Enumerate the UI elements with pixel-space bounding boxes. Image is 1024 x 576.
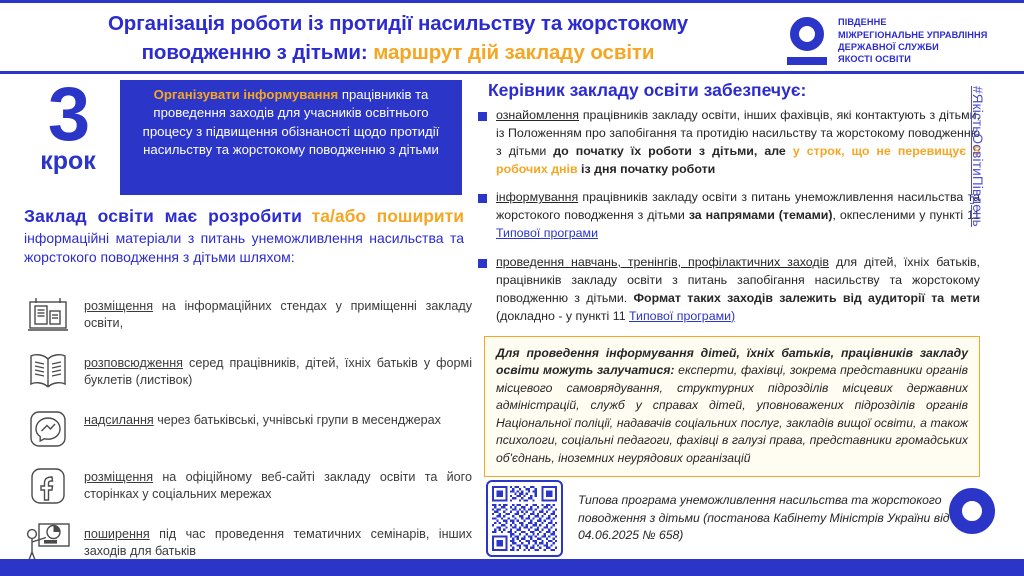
organization-name: ПІВДЕННЕ МІЖРЕГІОНАЛЬНЕ УПРАВЛІННЯ ДЕРЖА… — [838, 16, 987, 65]
qr-reference-row: Типова програма унеможливлення насильств… — [486, 480, 956, 557]
main-content: 3 крок Організувати інформування працівн… — [0, 74, 1024, 559]
org-line-4: ЯКОСТІ ОСВІТИ — [838, 53, 987, 65]
list-item: розміщення на офіційному веб-сайті закла… — [24, 463, 472, 511]
square-bullet-icon — [478, 194, 487, 203]
list-item: інформування працівників закладу освіти … — [478, 189, 980, 243]
page-title-accent: маршрут дій закладу освіти — [373, 41, 654, 64]
info-callout-box: Для проведення інформування дітей, їхніх… — [484, 336, 980, 477]
footer-bar — [0, 559, 1024, 576]
list-item-part2: (докладно - у пункті 11 — [496, 309, 629, 323]
list-item-keyword: ознайомлення — [496, 108, 579, 122]
list-item-text: розповсюдження серед працівників, дітей,… — [84, 349, 472, 390]
list-item-keyword: надсилання — [84, 413, 154, 427]
logo-mark-icon — [787, 17, 829, 65]
list-item: проведення навчань, тренінгів, профілакт… — [478, 254, 980, 325]
left-intro-bold-orange: та/або поширити — [312, 206, 464, 226]
step-badge: 3 крок — [22, 80, 114, 174]
organization-logo: ПІВДЕННЕ МІЖРЕГІОНАЛЬНЕ УПРАВЛІННЯ ДЕРЖА… — [787, 13, 1017, 69]
corner-ring-logo-icon — [949, 488, 995, 534]
list-item-keyword: проведення навчань, тренінгів, профілакт… — [496, 255, 829, 269]
list-item: розповсюдження серед працівників, дітей,… — [24, 349, 472, 397]
list-item-text: надсилання через батьківські, учнівські … — [84, 406, 472, 429]
org-line-2: МІЖРЕГІОНАЛЬНЕ УПРАВЛІННЯ — [838, 29, 987, 41]
step-callout-accent: Організувати інформування — [154, 87, 339, 102]
list-item-bold1: за напрямами (темами) — [689, 208, 833, 222]
list-item-part2: , окпесленими у пункті 11 — [833, 208, 980, 222]
header-banner: Організація роботи із протидії насильств… — [0, 0, 1024, 74]
left-intro-bold-blue: Заклад освіти має розробити — [24, 206, 302, 226]
info-box-rest: експерти, фахівці, зокрема представники … — [496, 363, 968, 464]
messenger-icon — [24, 406, 72, 452]
list-item: надсилання через батьківські, учнівські … — [24, 406, 472, 454]
page-title-line1: Організація роботи із протидії насильств… — [108, 12, 688, 35]
hashtag-label: #ЯкістьОсвітиПівдень — [970, 86, 985, 227]
list-item-bold1: до початку їх роботи з дітьми, але — [553, 144, 793, 158]
typical-program-link[interactable]: Типової програми) — [629, 309, 735, 323]
list-item-keyword: розміщення — [84, 470, 153, 484]
facebook-icon — [24, 463, 72, 509]
list-item-keyword: інформування — [496, 190, 578, 204]
list-item-keyword: поширення — [84, 527, 150, 541]
right-column-heading: Керівник закладу освіти забезпечує: — [488, 80, 806, 101]
left-intro-paragraph: Заклад освіти має розробити та/або пошир… — [24, 204, 464, 268]
step-number: 3 — [22, 80, 114, 151]
qr-code[interactable] — [486, 480, 563, 557]
logo-ring-shape — [790, 17, 824, 51]
list-item-keyword: розміщення — [84, 299, 153, 313]
list-item-bold2: із дня початку роботи — [578, 162, 716, 176]
org-line-3: ДЕРЖАВНОЇ СЛУЖБИ — [838, 41, 987, 53]
page-title-line2: поводженню з дітьми: — [142, 41, 368, 64]
list-item-text: ознайомлення працівників закладу освіти,… — [496, 107, 980, 178]
left-column: 3 крок Організувати інформування працівн… — [0, 74, 478, 559]
list-item-text: проведення навчань, тренінгів, профілакт… — [496, 254, 980, 325]
square-bullet-icon — [478, 112, 487, 121]
page-title: Організація роботи із протидії насильств… — [18, 9, 778, 67]
left-intro-rest: інформаційні матеріали з питань унеможли… — [24, 230, 464, 266]
logo-bar-shape — [787, 57, 827, 65]
step-section: 3 крок Організувати інформування працівн… — [22, 80, 472, 200]
list-item-text: розміщення на офіційному веб-сайті закла… — [84, 463, 472, 504]
noticeboard-icon — [24, 292, 72, 338]
typical-program-link[interactable]: Типової програми — [496, 226, 598, 240]
step-callout-box: Організувати інформування працівників та… — [120, 80, 462, 195]
open-book-icon — [24, 349, 72, 395]
right-column: Керівник закладу освіти забезпечує: озна… — [478, 74, 1024, 559]
qr-caption: Типова програма унеможливлення насильств… — [578, 492, 956, 545]
step-label: крок — [22, 149, 114, 174]
list-item-text: розміщення на інформаційних стендах у пр… — [84, 292, 472, 333]
list-item-text: поширення під час проведення тематичних … — [84, 520, 472, 561]
square-bullet-icon — [478, 259, 487, 268]
list-item-keyword: розповсюдження — [84, 356, 183, 370]
list-item: ознайомлення працівників закладу освіти,… — [478, 107, 980, 178]
list-item-text: інформування працівників закладу освіти … — [496, 189, 980, 243]
left-methods-list: розміщення на інформаційних стендах у пр… — [24, 292, 472, 576]
list-item: розміщення на інформаційних стендах у пр… — [24, 292, 472, 340]
org-line-1: ПІВДЕННЕ — [838, 16, 987, 28]
list-item-rest: через батьківські, учнівські групи в мес… — [154, 413, 441, 427]
list-item-bold1: Формат таких заходів залежить від аудито… — [633, 291, 980, 305]
director-duties-list: ознайомлення працівників закладу освіти,… — [478, 107, 980, 336]
